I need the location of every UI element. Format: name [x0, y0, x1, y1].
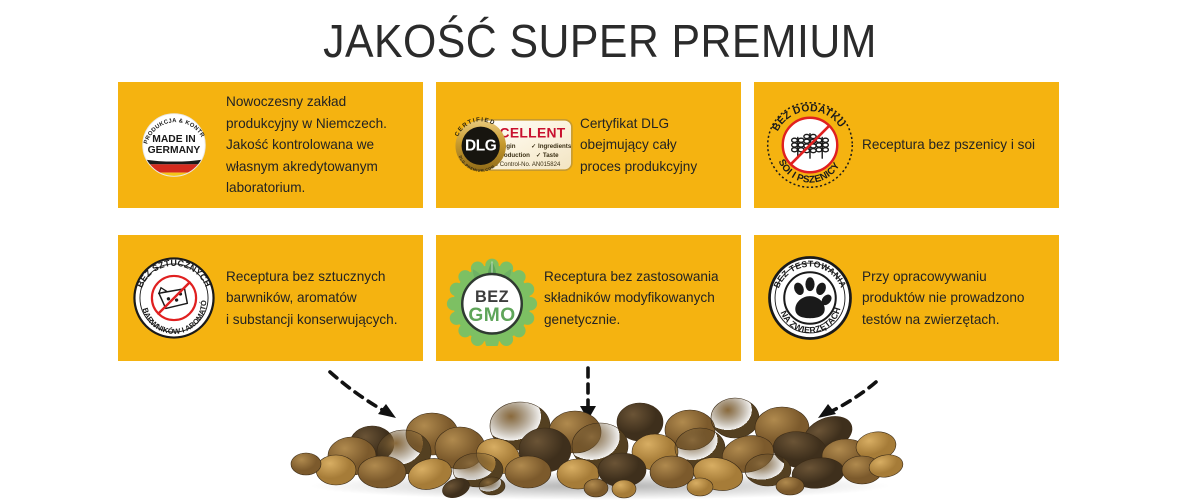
svg-text:✓ Ingredients: ✓ Ingredients	[531, 143, 572, 150]
svg-text:DLG: DLG	[465, 138, 497, 155]
feature-card-made-in-germany[interactable]: PRODUKCJA & KONTROLA JAKOŚCI MADE IN GER…	[118, 82, 423, 208]
svg-text:BEZ: BEZ	[475, 288, 509, 306]
product-image-stage	[0, 360, 1200, 500]
svg-text:MADE IN: MADE IN	[152, 134, 195, 145]
feature-card-text: Certyfikat DLG obejmujący cały proces pr…	[576, 113, 697, 178]
feature-card-text: Receptura bez sztucznych barwników, arom…	[222, 266, 398, 331]
feature-card-no-animal-testing[interactable]: BEZ TESTOWANIA NA ZWIERZĘTACH Przy oprac…	[754, 235, 1059, 361]
no-artificial-badge: BEZ SZTUCZNYCH BARWNIKÓW I AROMATÓW	[126, 250, 222, 346]
feature-card-text: Nowoczesny zakład produkcyjny w Niemczec…	[222, 91, 387, 199]
svg-text:✓ Taste: ✓ Taste	[536, 152, 559, 159]
feature-card-text: Receptura bez zastosowania składników mo…	[540, 266, 719, 331]
feature-card-no-wheat-soy[interactable]: BEZ DODATKU SOI I PSZENICY Receptura bez…	[754, 82, 1059, 208]
feature-card-grid: PRODUKCJA & KONTROLA JAKOŚCI MADE IN GER…	[118, 82, 1060, 361]
page-title: JAKOŚĆ SUPER PREMIUM	[42, 14, 1158, 68]
feature-card-text: Receptura bez pszenicy i soi	[858, 134, 1035, 156]
no-wheat-soy-badge: BEZ DODATKU SOI I PSZENICY	[762, 97, 858, 193]
dlg-excellent-badge: EXCELLENT ✓ Origin ✓ Ingredients ✓ Produ…	[444, 97, 576, 193]
svg-text:GERMANY: GERMANY	[148, 145, 201, 156]
page-root: JAKOŚĆ SUPER PREMIUM	[0, 0, 1200, 500]
feature-card-dlg[interactable]: EXCELLENT ✓ Origin ✓ Ingredients ✓ Produ…	[436, 82, 741, 208]
made-in-germany-badge: PRODUKCJA & KONTROLA JAKOŚCI MADE IN GER…	[126, 97, 222, 193]
feature-card-text: Przy opracowywaniu produktów nie prowadz…	[858, 266, 1024, 331]
svg-text:GMO: GMO	[468, 305, 515, 326]
feature-card-no-gmo[interactable]: BEZ GMO Receptura bez zastosowania skład…	[436, 235, 741, 361]
dry-dog-food-kibble-pile	[0, 360, 1200, 500]
no-animal-testing-badge: BEZ TESTOWANIA NA ZWIERZĘTACH	[762, 250, 858, 346]
no-gmo-badge: BEZ GMO	[444, 250, 540, 346]
feature-card-no-artificial[interactable]: BEZ SZTUCZNYCH BARWNIKÓW I AROMATÓW Rece…	[118, 235, 423, 361]
